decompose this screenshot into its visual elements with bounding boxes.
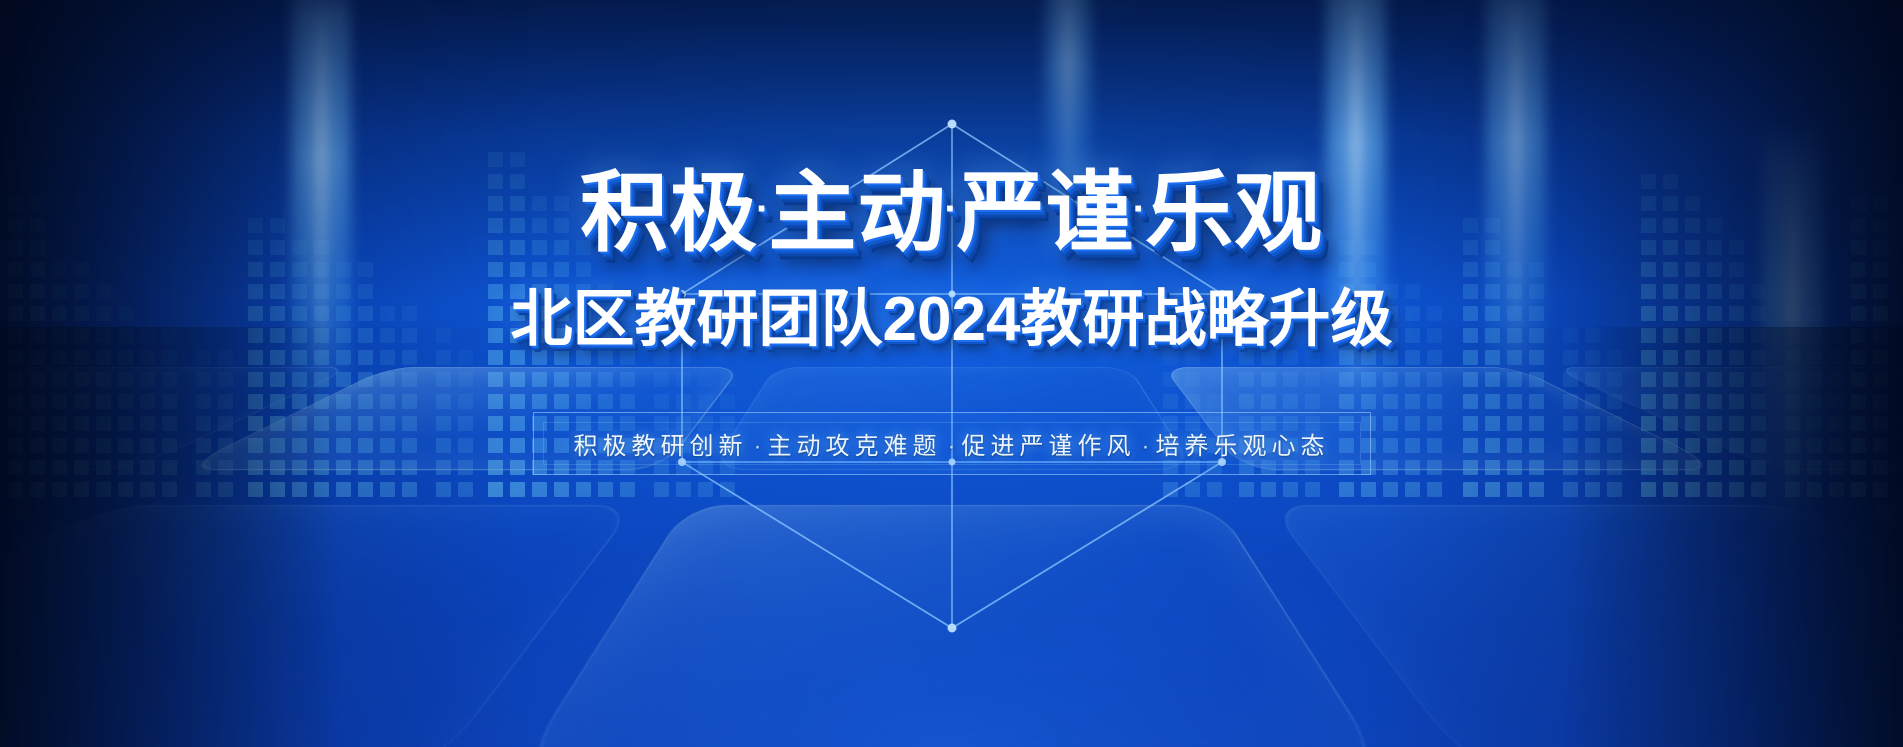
banner-title-main: 积极·主动·严谨·乐观	[580, 168, 1323, 258]
tagline-separator-2: ·	[948, 433, 956, 460]
title-segment-2: 主动	[768, 163, 946, 262]
tagline-text: 积极教研创新·主动攻克难题·促进严谨作风·培养乐观心态	[574, 426, 1330, 461]
tagline-box: 积极教研创新·主动攻克难题·促进严谨作风·培养乐观心态	[533, 412, 1371, 475]
tagline-separator-3: ·	[1142, 433, 1150, 460]
tagline-item-3: 促进严谨作风	[962, 433, 1136, 460]
tagline-separator-1: ·	[754, 433, 762, 460]
title-segment-3: 严谨	[957, 163, 1135, 262]
title-separator-2: ·	[944, 187, 958, 231]
banner-title-sub: 北区教研团队2024教研战略升级	[511, 268, 1393, 358]
hero-banner: 积极·主动·严谨·乐观 北区教研团队2024教研战略升级 积极教研创新·主动攻克…	[0, 0, 1903, 747]
title-separator-3: ·	[1133, 187, 1147, 231]
tagline-item-1: 积极教研创新	[574, 433, 748, 460]
banner-content: 积极·主动·严谨·乐观 北区教研团队2024教研战略升级 积极教研创新·主动攻克…	[0, 0, 1903, 747]
title-separator-1: ·	[756, 187, 770, 231]
tagline-item-4: 培养乐观心态	[1156, 433, 1330, 460]
tagline-item-2: 主动攻克难题	[768, 433, 942, 460]
title-segment-4: 乐观	[1145, 163, 1323, 262]
title-segment-1: 积极	[580, 163, 758, 262]
